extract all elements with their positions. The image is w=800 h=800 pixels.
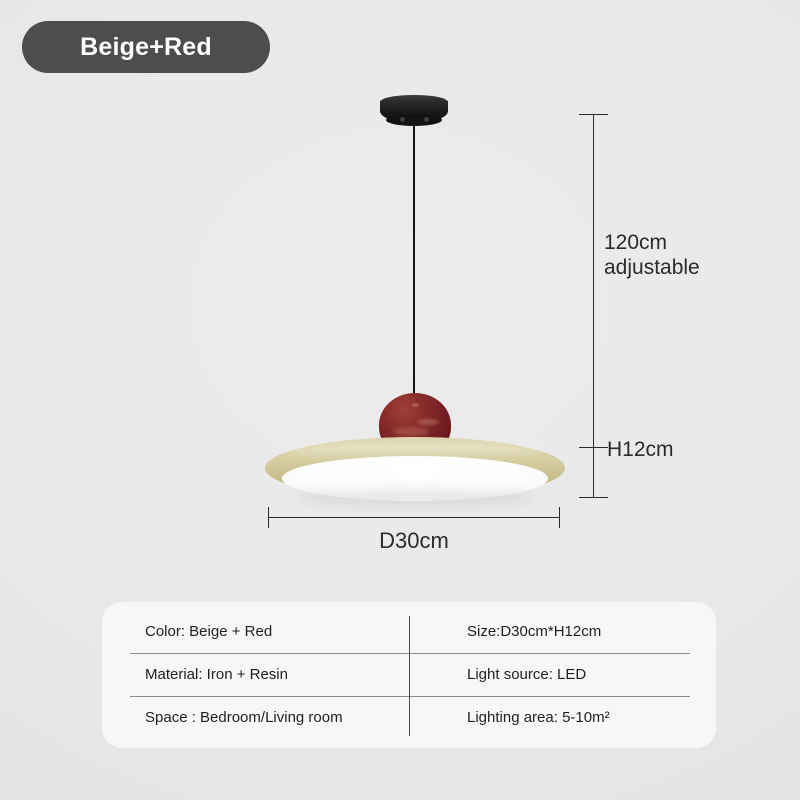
spec-color: Color: Beige + Red: [102, 610, 409, 653]
dimension-label-drop: 120cmadjustable: [604, 230, 700, 280]
dimension-cap-right: [559, 507, 560, 528]
dimension-tick-middle: [579, 447, 608, 448]
table-divider-horizontal: [130, 696, 690, 697]
ceiling-canopy: [380, 95, 448, 125]
dimension-line-diameter: [268, 517, 560, 518]
shade-drop-shadow: [295, 489, 535, 505]
canopy-screw-left: [400, 117, 405, 122]
dimension-label-diameter: D30cm: [268, 528, 560, 554]
dimension-tick-bottom: [579, 497, 608, 498]
spec-material: Material: Iron + Resin: [102, 653, 409, 696]
table-divider-horizontal: [130, 653, 690, 654]
canopy-screw-right: [424, 117, 429, 122]
dimension-cap-left: [268, 507, 269, 528]
dimension-label-height: H12cm: [607, 437, 674, 462]
specification-card: Color: Beige + Red Size:D30cm*H12cm Mate…: [102, 602, 716, 748]
dimension-line-height: [593, 448, 594, 497]
table-divider-vertical: [409, 616, 410, 736]
spec-light-source: Light source: LED: [409, 653, 716, 696]
suspension-cord: [413, 122, 415, 402]
specification-table: Color: Beige + Red Size:D30cm*H12cm Mate…: [102, 602, 716, 748]
sphere-highlight-primary: [393, 427, 429, 436]
dimension-tick-top: [579, 114, 608, 115]
dimension-line-drop: [593, 115, 594, 448]
spec-size: Size:D30cm*H12cm: [409, 610, 716, 653]
spec-lighting-area: Lighting area: 5-10m²: [409, 696, 716, 739]
sphere-highlight-secondary: [417, 419, 439, 425]
beige-disc-shade: [265, 437, 565, 505]
dimension-label-drop-line1: 120cm: [604, 231, 667, 254]
dimension-label-drop-line2: adjustable: [604, 256, 700, 279]
spec-space: Space : Bedroom/Living room: [102, 696, 409, 739]
sphere-top-highlight: [412, 403, 419, 407]
